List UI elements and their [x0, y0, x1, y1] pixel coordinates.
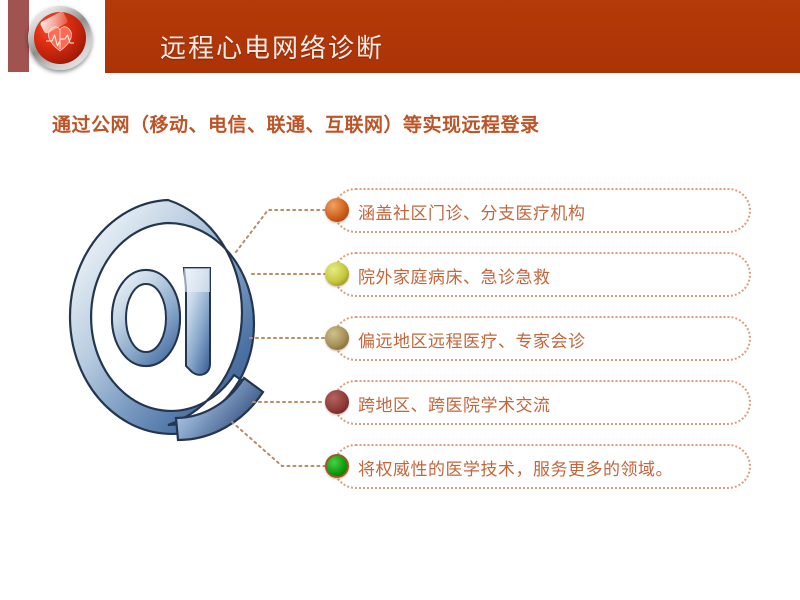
bullet-yellow-green	[325, 262, 349, 286]
at-symbol-icon	[58, 192, 278, 477]
list-item[interactable]: 偏远地区远程医疗、专家会诊	[325, 316, 755, 361]
bullet-orange	[325, 198, 349, 222]
bullet-dark-red	[325, 390, 349, 414]
list-item[interactable]: 将权威性的医学技术，服务更多的领域。	[325, 444, 755, 489]
page-header: 远程心电网络诊断	[0, 0, 800, 74]
list-item-label: 跨地区、跨医院学术交流	[358, 391, 551, 416]
list-item-label: 偏远地区远程医疗、专家会诊	[358, 327, 586, 352]
header-left-accent-bar	[8, 0, 29, 72]
at-symbol-svg	[58, 192, 278, 477]
bullet-khaki	[325, 326, 349, 350]
list-item[interactable]: 院外家庭病床、急诊急救	[325, 252, 755, 297]
section-subtitle: 通过公网（移动、电信、联通、互联网）等实现远程登录	[52, 110, 540, 137]
list-item-label: 涵盖社区门诊、分支医疗机构	[358, 199, 586, 224]
badge-inner-disc	[34, 12, 86, 64]
page-title: 远程心电网络诊断	[160, 28, 384, 65]
list-item-label: 院外家庭病床、急诊急救	[358, 263, 551, 288]
list-item[interactable]: 涵盖社区门诊、分支医疗机构	[325, 188, 755, 233]
list-item[interactable]: 跨地区、跨医院学术交流	[325, 380, 755, 425]
bullet-green	[325, 454, 349, 478]
list-item-label: 将权威性的医学技术，服务更多的领域。	[358, 455, 673, 480]
feature-list: 涵盖社区门诊、分支医疗机构 院外家庭病床、急诊急救 偏远地区远程医疗、专家会诊 …	[325, 188, 755, 508]
heart-ecg-badge-icon	[28, 6, 92, 70]
